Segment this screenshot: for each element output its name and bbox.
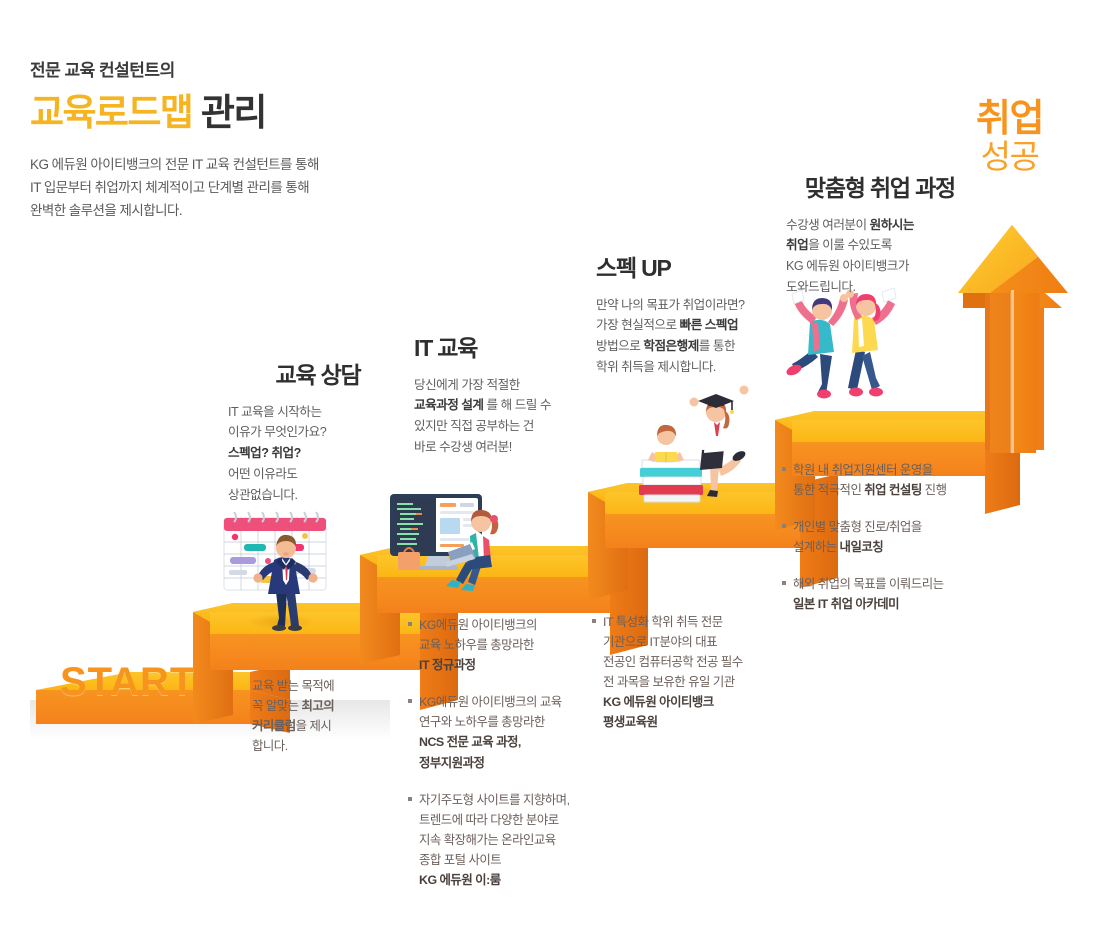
- step-4-bullet-1-tail: 진행: [922, 483, 947, 497]
- step-1-note-line-3b: 을 제시: [296, 719, 332, 733]
- step-2-bullet-3-line-3: 지속 확장해가는 온라인교육: [419, 833, 556, 847]
- step-1-desc-line-2: 이유가 무엇인가요?: [228, 425, 326, 439]
- step-4-bullet-1-strong: 취업 컨설팅: [864, 483, 921, 497]
- start-label: START: [60, 660, 195, 705]
- step-1-desc-line-3: 스펙업? 취업?: [228, 446, 301, 460]
- book-stack-icon: [639, 460, 703, 502]
- step-2-description: 당신에게 가장 적절한 교육과정 설계 를 해 드릴 수 있지만 직접 공부하는…: [414, 375, 614, 458]
- step-4-bullet-3-strong: 일본 IT 취업 아카데미: [793, 597, 899, 611]
- step-3-desc-line-1: 만약 나의 목표가 취업이라면?: [596, 298, 745, 312]
- step-2-bullet-1: KG에듀원 아이티뱅크의 교육 노하우를 총망라한 IT 정규과정: [408, 615, 593, 675]
- step-1-note-line-1: 교육 받는 목적에: [252, 679, 334, 693]
- step-2-bullet-1-line-1: KG에듀원 아이티뱅크의: [419, 618, 537, 632]
- step-4-bullets: 학원 내 취업지원센터 운영을 통한 적극적인 취업 컨설팅 진행 개인별 맞춤…: [782, 460, 997, 615]
- step-2-head: IT 교육 당신에게 가장 적절한 교육과정 설계 를 해 드릴 수 있지만 직…: [414, 335, 614, 458]
- step-3-desc-line-2b: 빠른 스펙업: [680, 318, 738, 332]
- celebrating-student-right: [846, 288, 896, 397]
- step-3-bullet-1-line-2: 기관으로 IT분야의 대표: [603, 635, 717, 649]
- illustration-businessman-with-calendar-board: [216, 504, 348, 632]
- step-2-bullet-3-line-1: 자기주도형 사이트를 지향하며,: [419, 793, 570, 807]
- step-1-note-text: 교육 받는 목적에 꼭 알맞는 최고의 커리큘럼을 제시 합니다.: [252, 676, 372, 756]
- step-1-desc-line-1: IT 교육을 시작하는: [228, 405, 322, 419]
- step-2-bullet-3-strong: KG 에듀원 이:룸: [419, 873, 501, 887]
- step-4-title: 맞춤형 취업 과정: [740, 175, 955, 203]
- step-4-head: 맞춤형 취업 과정 수강생 여러분이 원하시는 취업을 이룰 수있도록 KG 에…: [740, 175, 955, 298]
- step-1-desc-line-4: 어떤 이유라도: [228, 467, 298, 481]
- step-3-desc-line-4: 학위 취득을 제시합니다.: [596, 360, 716, 374]
- step-4-bullet-2-line-2: 설계하는: [793, 540, 840, 554]
- step-3-bullet-1-line-3: 전공인 컴퓨터공학 전공 필수: [603, 655, 743, 669]
- illustration-graduate-and-reader-on-books: [636, 394, 768, 504]
- step-4-bullet-1-line-2: 통한 적극적인: [793, 483, 864, 497]
- step-2-title: IT 교육: [414, 335, 614, 363]
- step-2-bullet-1-strong: IT 정규과정: [419, 658, 476, 672]
- step-1-note: 교육 받는 목적에 꼭 알맞는 최고의 커리큘럼을 제시 합니다.: [252, 676, 372, 756]
- step-2-bullets: KG에듀원 아이티뱅크의 교육 노하우를 총망라한 IT 정규과정 KG에듀원 …: [408, 615, 593, 890]
- step-3-desc-line-3c: 를 통한: [699, 339, 735, 353]
- step-4-bullet-1: 학원 내 취업지원센터 운영을 통한 적극적인 취업 컨설팅 진행: [782, 460, 997, 500]
- step-2-bullet-2: KG에듀원 아이티뱅크의 교육 연구와 노하우를 총망라한 NCS 전문 교육 …: [408, 692, 593, 772]
- step-2-desc-line-1: 당신에게 가장 적절한: [414, 378, 520, 392]
- step-2-desc-line-3: 있지만 직접 공부하는 건: [414, 419, 534, 433]
- step-4-bullet-3: 해외 취업의 목표를 이뤄드리는 일본 IT 취업 아카데미: [782, 574, 997, 614]
- step-1-note-line-4: 합니다.: [252, 739, 288, 753]
- page-title-rest: 관리: [192, 92, 266, 133]
- step-2-bullet-1-line-2: 교육 노하우를 총망라한: [419, 638, 534, 652]
- step-4-bullet-1-line-1: 학원 내 취업지원센터 운영을: [793, 463, 933, 477]
- step-3-desc-line-2a: 가장 현실적으로: [596, 318, 680, 332]
- step-4-desc-line-4: 도와드립니다.: [786, 280, 856, 294]
- header-block: 전문 교육 컨설턴트의 교육로드맵 관리 KG 에듀원 아이티뱅크의 전문 IT…: [30, 60, 450, 222]
- step-4-desc-line-1b: 원하시는: [870, 218, 914, 232]
- step-4-desc-line-2b: 을 이룰 수있도록: [808, 238, 892, 252]
- step-3-description: 만약 나의 목표가 취업이라면? 가장 현실적으로 빠른 스펙업 방법으로 학점…: [596, 295, 811, 378]
- step-4-bullet-2: 개인별 맞춤형 진로/취업을 설계하는 내일코칭: [782, 517, 997, 557]
- step-2-desc-line-4: 바로 수강생 여러분!: [414, 440, 512, 454]
- step-2-desc-line-2a: 교육과정 설계: [414, 398, 484, 412]
- step-3-bullets: IT 특성화 학위 취득 전문 기관으로 IT분야의 대표 전공인 컴퓨터공학 …: [592, 612, 782, 733]
- step-2-desc-line-2b: 를 해 드릴 수: [484, 398, 551, 412]
- step-3-bullet-1-line-1: IT 특성화 학위 취득 전문: [603, 615, 723, 629]
- step-3-bullet-1: IT 특성화 학위 취득 전문 기관으로 IT분야의 대표 전공인 컴퓨터공학 …: [592, 612, 782, 733]
- roadmap-infographic: 전문 교육 컨설턴트의 교육로드맵 관리 KG 에듀원 아이티뱅크의 전문 IT…: [0, 0, 1100, 925]
- step-3-bullet-1-line-4: 전 과목을 보유한 유일 기관: [603, 675, 735, 689]
- goal-label-line2: 성공: [976, 140, 1043, 173]
- step-3-desc-line-3a: 방법으로: [596, 339, 643, 353]
- goal-label-line1: 취업: [976, 100, 1043, 138]
- step-1-note-line-2a: 꼭 알맞는: [252, 699, 301, 713]
- step-4-desc-line-3: KG 에듀원 아이티뱅크가: [786, 259, 909, 273]
- step-2-bullet-2-line-2: 연구와 노하우를 총망라한: [419, 715, 545, 729]
- step-4-bullet-3-line-1: 해외 취업의 목표를 이뤄드리는: [793, 577, 944, 591]
- step-4-desc-line-2a: 취업: [786, 238, 808, 252]
- step-1-title: 교육 상담: [228, 362, 408, 390]
- page-title-highlight: 교육로드맵: [30, 92, 192, 133]
- page-title: 교육로드맵 관리: [30, 92, 450, 135]
- header-eyebrow: 전문 교육 컨설턴트의: [30, 60, 450, 82]
- illustration-woman-with-laptop-and-monitor: [386, 492, 516, 598]
- step-4-description: 수강생 여러분이 원하시는 취업을 이룰 수있도록 KG 에듀원 아이티뱅크가 …: [740, 215, 955, 298]
- step-2-bullet-2-line-1: KG에듀원 아이티뱅크의 교육: [419, 695, 562, 709]
- step-3-bullet-1-strong: KG 에듀원 아이티뱅크 평생교육원: [603, 695, 714, 729]
- step-3-desc-line-3b: 학점은행제: [643, 339, 698, 353]
- step-1-note-line-2b: 최고의: [301, 699, 334, 713]
- step-2-bullet-3-line-2: 트렌드에 따라 다양한 분야로: [419, 813, 559, 827]
- step-1-desc-line-5: 상관없습니다.: [228, 488, 298, 502]
- header-description: KG 에듀원 아이티뱅크의 전문 IT 교육 컨설턴트를 통해 IT 입문부터 …: [30, 153, 450, 223]
- seated-reader-figure: [648, 425, 684, 463]
- goal-label: 취업 성공: [976, 100, 1043, 173]
- step-2-bullet-3: 자기주도형 사이트를 지향하며, 트렌드에 따라 다양한 분야로 지속 확장해가…: [408, 790, 593, 890]
- step-4-desc-line-1a: 수강생 여러분이: [786, 218, 870, 232]
- step-2-bullet-3-line-4: 종합 포털 사이트: [419, 853, 501, 867]
- step-1-description: IT 교육을 시작하는 이유가 무엇인가요? 스펙업? 취업? 어떤 이유라도 …: [228, 402, 408, 506]
- step-4-bullet-2-strong: 내일코칭: [840, 540, 884, 554]
- step-1-head: 교육 상담 IT 교육을 시작하는 이유가 무엇인가요? 스펙업? 취업? 어떤…: [228, 362, 408, 505]
- step-1-note-line-3a: 커리큘럼: [252, 719, 296, 733]
- step-4-bullet-2-line-1: 개인별 맞춤형 진로/취업을: [793, 520, 922, 534]
- step-2-bullet-2-strong: NCS 전문 교육 과정, 정부지원과정: [419, 735, 521, 769]
